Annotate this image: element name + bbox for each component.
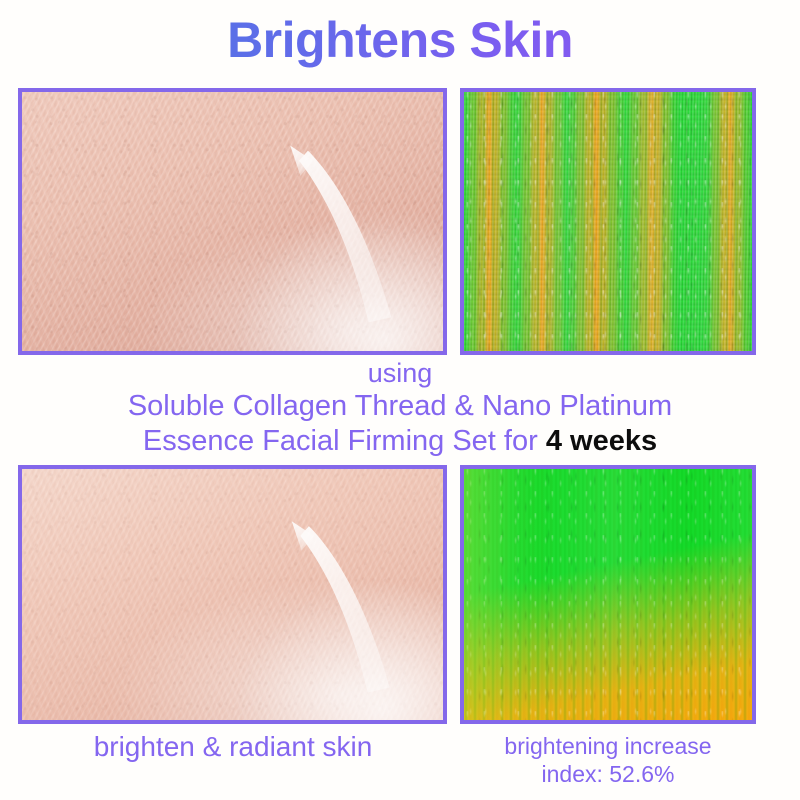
panel-analysis-map-after <box>460 465 756 724</box>
skin-photo-after-image <box>22 469 443 720</box>
caption-analysis-after-line-1: brightening increase <box>460 733 756 761</box>
product-name-line-2: Essence Facial Firming Set for 4 weeks <box>0 425 800 458</box>
skin-photo-before-image <box>22 92 443 351</box>
panel-skin-photo-after <box>18 465 447 724</box>
curved-up-left-arrow-icon <box>233 509 444 705</box>
duration-emphasis: 4 weeks <box>546 425 657 457</box>
map-left-edge-fade <box>464 469 752 720</box>
caption-skin-after: brighten & radiant skin <box>18 731 448 763</box>
page-title: Brightens Skin <box>0 12 800 70</box>
analysis-map-before-image <box>464 92 752 351</box>
panel-analysis-map-before <box>460 88 756 355</box>
product-name-line-2-prefix: Essence Facial Firming Set for <box>143 425 546 457</box>
using-label: using <box>0 358 800 389</box>
caption-analysis-after-line-2: index: 52.6% <box>460 761 756 789</box>
map-speckle-overlay-secondary <box>464 92 752 351</box>
analysis-map-after-image <box>464 469 752 720</box>
curved-up-left-arrow-icon <box>233 133 444 335</box>
caption-analysis-after: brightening increase index: 52.6% <box>460 733 756 788</box>
panel-skin-photo-before <box>18 88 447 355</box>
product-name-line-1: Soluble Collagen Thread & Nano Platinum <box>0 390 800 423</box>
